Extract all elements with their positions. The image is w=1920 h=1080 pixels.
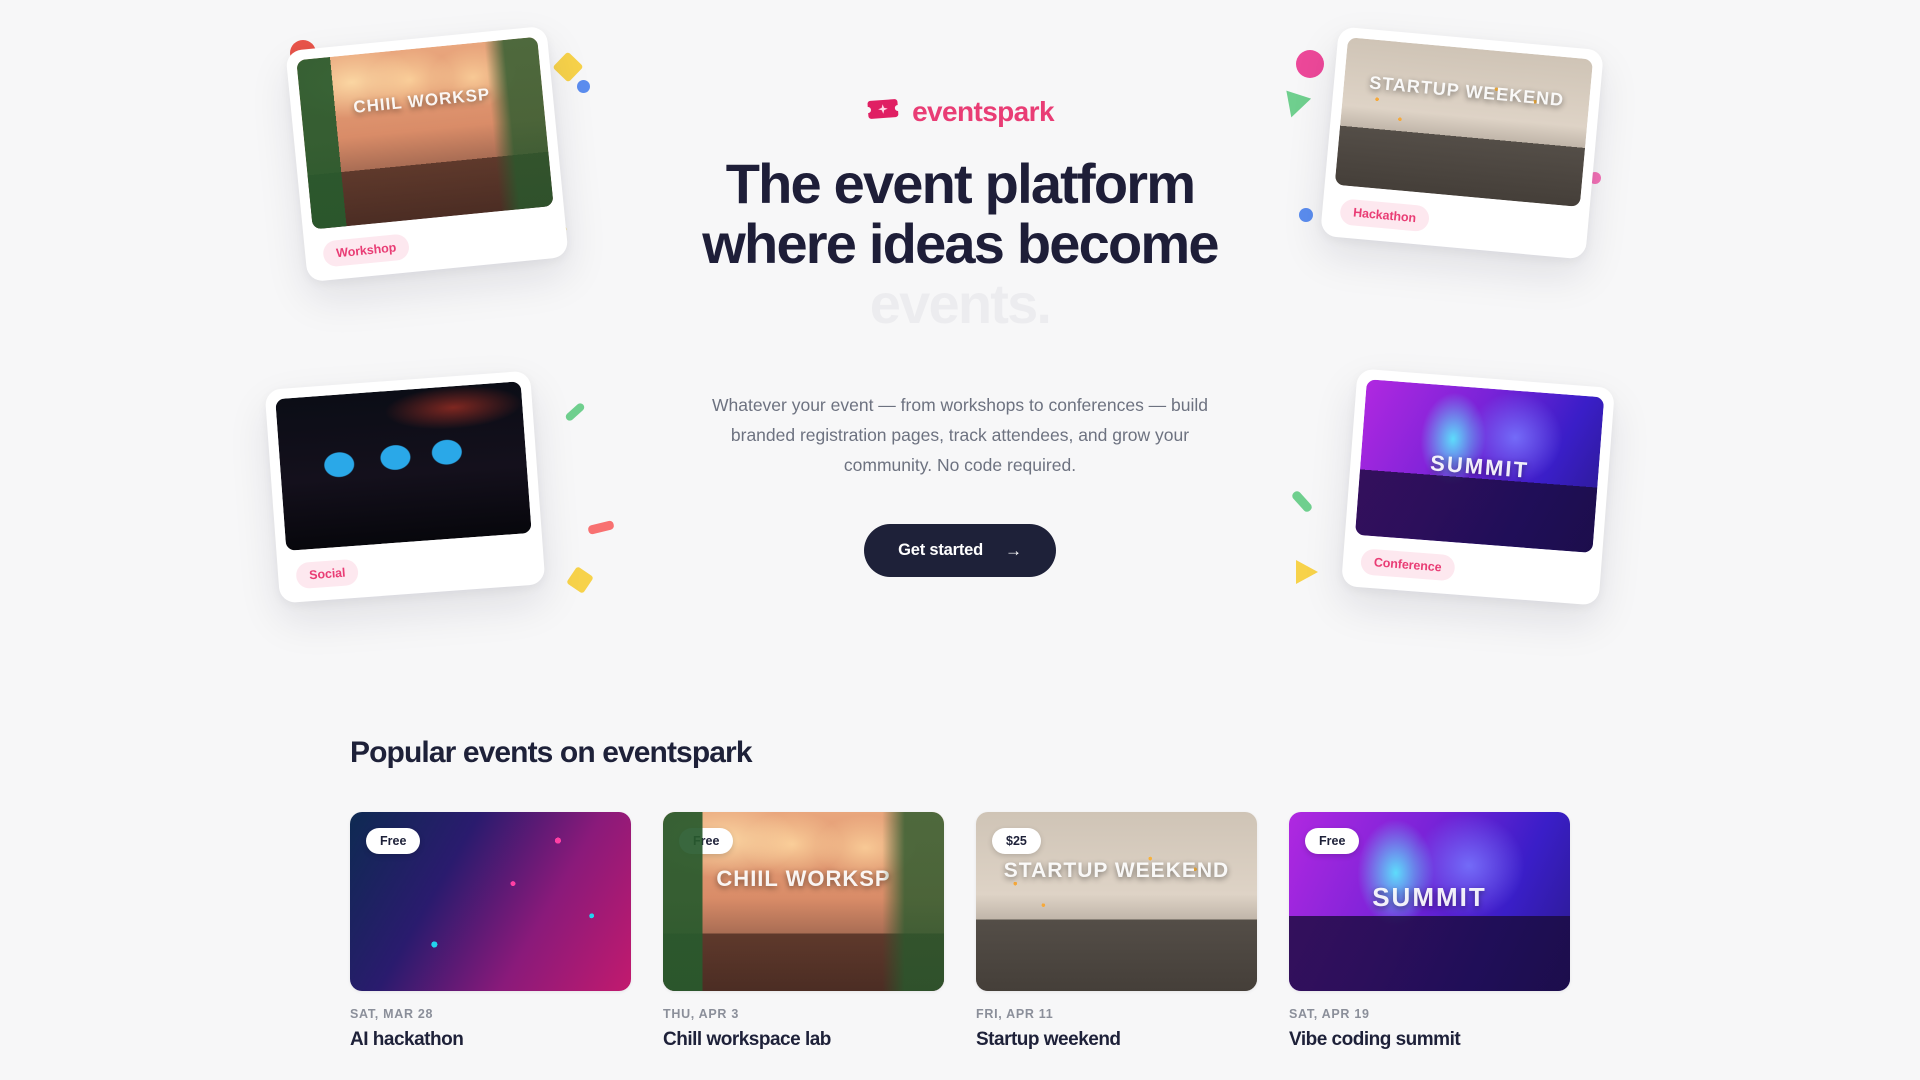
hero-subcopy: Whatever your event — from workshops to … — [690, 390, 1230, 480]
social-photo-text — [278, 421, 523, 439]
workshop-photo: CHIIL WORKSP — [296, 37, 553, 230]
hero-photo-card-social[interactable]: Social — [265, 371, 546, 604]
confetti-dot-pink — [1296, 50, 1324, 78]
confetti-square-yellow — [552, 51, 583, 82]
headline-line-3: events. — [870, 272, 1050, 335]
event-price-badge: Free — [1305, 828, 1359, 854]
event-date: FRI, APR 11 — [976, 1007, 1257, 1021]
event-card[interactable]: Free SAT, MAR 28 AI hackathon — [350, 812, 631, 1053]
workshop-photo-text: CHIIL WORKSP — [301, 80, 544, 121]
social-photo — [275, 381, 531, 551]
chip-social: Social — [295, 559, 359, 589]
chip-hackathon: Hackathon — [1339, 198, 1430, 232]
get-started-label: Get started — [898, 541, 983, 560]
event-date: THU, APR 3 — [663, 1007, 944, 1021]
event-title: Vibe coding summit — [1289, 1028, 1570, 1053]
event-title: Startup weekend — [976, 1028, 1257, 1053]
brand-logo[interactable]: eventspark — [580, 96, 1340, 128]
arrow-right-icon: → — [1005, 542, 1022, 559]
hero-section: CHIIL WORKSP Workshop STARTUP WEEKEND Ha… — [0, 0, 1920, 700]
chip-conference: Conference — [1360, 548, 1455, 581]
conference-photo: SUMMIT — [1355, 379, 1604, 553]
hero-photo-card-workshop[interactable]: CHIIL WORKSP Workshop — [285, 26, 568, 282]
event-card[interactable]: Free SUMMIT SAT, APR 19 Vibe coding summ… — [1289, 812, 1570, 1053]
hackathon-photo-text: STARTUP WEEKEND — [1343, 71, 1590, 112]
page-title: The event platform where ideas become ev… — [580, 154, 1340, 334]
event-date: SAT, APR 19 — [1289, 1007, 1570, 1021]
popular-events-title: Popular events on eventspark — [350, 736, 1570, 770]
event-price-badge: Free — [366, 828, 420, 854]
landing-page: CHIIL WORKSP Workshop STARTUP WEEKEND Ha… — [0, 0, 1920, 1080]
ticket-icon — [866, 98, 900, 127]
headline-line-1: The event platform — [726, 152, 1195, 215]
hackathon-photo: $25 STARTUP WEEKEND — [976, 812, 1257, 991]
event-price-badge: Free — [679, 828, 733, 854]
conference-photo-text: SUMMIT — [1360, 447, 1599, 488]
get-started-button[interactable]: Get started → — [864, 524, 1056, 577]
event-card[interactable]: Free CHIIL WORKSP THU, APR 3 Chill works… — [663, 812, 944, 1053]
hero-photo-card-conference[interactable]: SUMMIT Conference — [1341, 368, 1615, 605]
popular-events-section: Popular events on eventspark Free SAT, M… — [0, 736, 1920, 1053]
cta-container: Get started → — [580, 524, 1340, 577]
workshop-photo: Free CHIIL WORKSP — [663, 812, 944, 991]
headline-line-2: where ideas become — [702, 212, 1217, 275]
brand-name: eventspark — [912, 96, 1054, 128]
event-card[interactable]: $25 STARTUP WEEKEND FRI, APR 11 Startup … — [976, 812, 1257, 1053]
hackathon-photo: STARTUP WEEKEND — [1335, 37, 1593, 207]
conference-photo: Free SUMMIT — [1289, 812, 1570, 991]
ai-hackathon-photo: Free — [350, 812, 631, 991]
hero-content: eventspark The event platform where idea… — [580, 96, 1340, 577]
conference-photo-text: SUMMIT — [1289, 884, 1570, 911]
event-title: Chill workspace lab — [663, 1028, 944, 1053]
hackathon-photo-text: STARTUP WEEKEND — [976, 860, 1257, 881]
hero-photo-card-hackathon[interactable]: STARTUP WEEKEND Hackathon — [1320, 26, 1604, 259]
popular-events-grid: Free SAT, MAR 28 AI hackathon Free CHIIL… — [350, 812, 1570, 1053]
event-date: SAT, MAR 28 — [350, 1007, 631, 1021]
chip-workshop: Workshop — [322, 233, 410, 267]
event-title: AI hackathon — [350, 1028, 631, 1053]
confetti-dot-blue — [577, 80, 590, 93]
event-price-badge: $25 — [992, 828, 1041, 854]
workshop-photo-text: CHIIL WORKSP — [663, 868, 944, 890]
